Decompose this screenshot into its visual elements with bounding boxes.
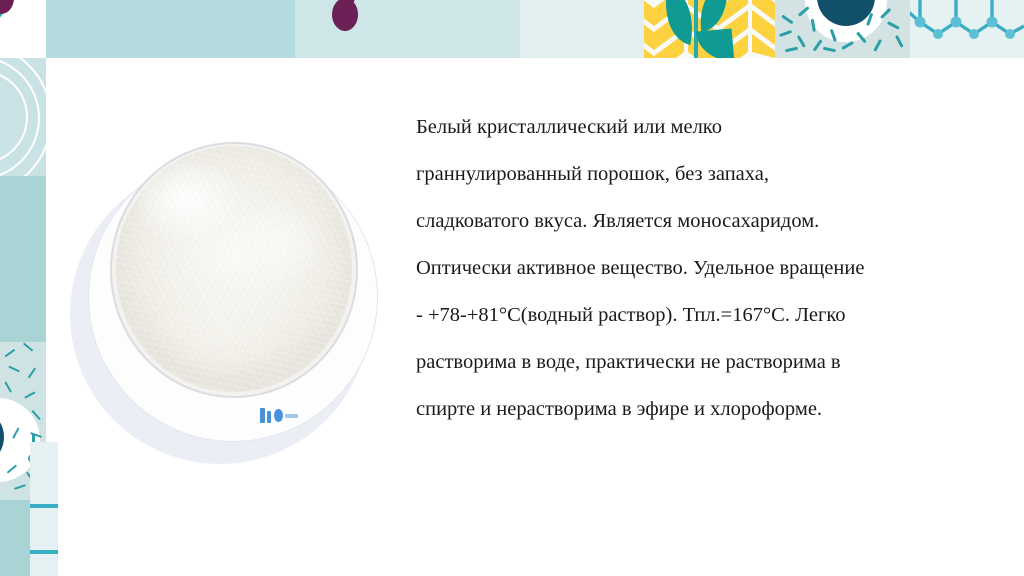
body-line: граннулированный порошок, без запаха, (416, 151, 996, 198)
speckle-icon (8, 366, 20, 373)
body-line: - +78-+81°C(водный раствор). Тпл.=167°C.… (416, 292, 996, 339)
plum-circle-icon (332, 0, 358, 31)
molecule-chain-tile (910, 0, 1024, 58)
concentric-arcs-tile (0, 58, 46, 176)
body-line: спирте и нерастворима в эфире и хлорофор… (416, 386, 996, 433)
yellow-chevron-leaf-tile (644, 0, 775, 58)
speckle-icon (781, 15, 793, 25)
speckle-icon (873, 39, 881, 52)
speckle-icon (4, 381, 12, 393)
speckle-icon (813, 39, 823, 51)
body-line: Белый кристаллический или мелко (416, 104, 996, 151)
plain-teal-tile-2 (0, 290, 46, 342)
plant-stem-icon (694, 0, 698, 58)
slide-root: Белый кристаллический или мелко граннули… (0, 0, 1024, 576)
speckle-icon (895, 35, 903, 48)
plum-circle-icon (0, 0, 14, 14)
speckle-icon (887, 21, 900, 29)
speckle-icon (24, 391, 36, 399)
speckle-icon (23, 342, 34, 352)
speckle-icon (28, 368, 37, 379)
speckle-icon (779, 30, 792, 37)
speckle-icon (4, 349, 15, 358)
plum-dot-tile (295, 0, 520, 58)
horizontal-line-icon (30, 504, 58, 508)
molecule-chain-icon (910, 0, 1024, 58)
pale-tile (520, 0, 644, 58)
speckle-icon (797, 35, 806, 48)
body-line: Оптически активное вещество. Удельное вр… (416, 245, 996, 292)
horizontal-line-icon (30, 550, 58, 554)
speckle-icon (823, 47, 836, 52)
eye-speckle-tile (775, 0, 910, 58)
line-strip-tile (30, 442, 58, 576)
petri-dish-photo (62, 136, 392, 484)
body-line: сладковатого вкуса. Является моносахарид… (416, 198, 996, 245)
top-decor-band (0, 0, 1024, 58)
speckle-icon (841, 41, 854, 50)
speckle-icon (785, 47, 798, 52)
body-text-block: Белый кристаллический или мелко граннули… (416, 104, 996, 433)
plain-light-blue-tile (46, 0, 295, 58)
diagonal-stripes-tile (0, 0, 46, 58)
body-line: растворима в воде, практически не раство… (416, 339, 996, 386)
plain-teal-tile (0, 176, 46, 290)
speckle-icon (14, 484, 26, 490)
arc-icon (0, 58, 46, 176)
powder-texture (116, 146, 352, 392)
